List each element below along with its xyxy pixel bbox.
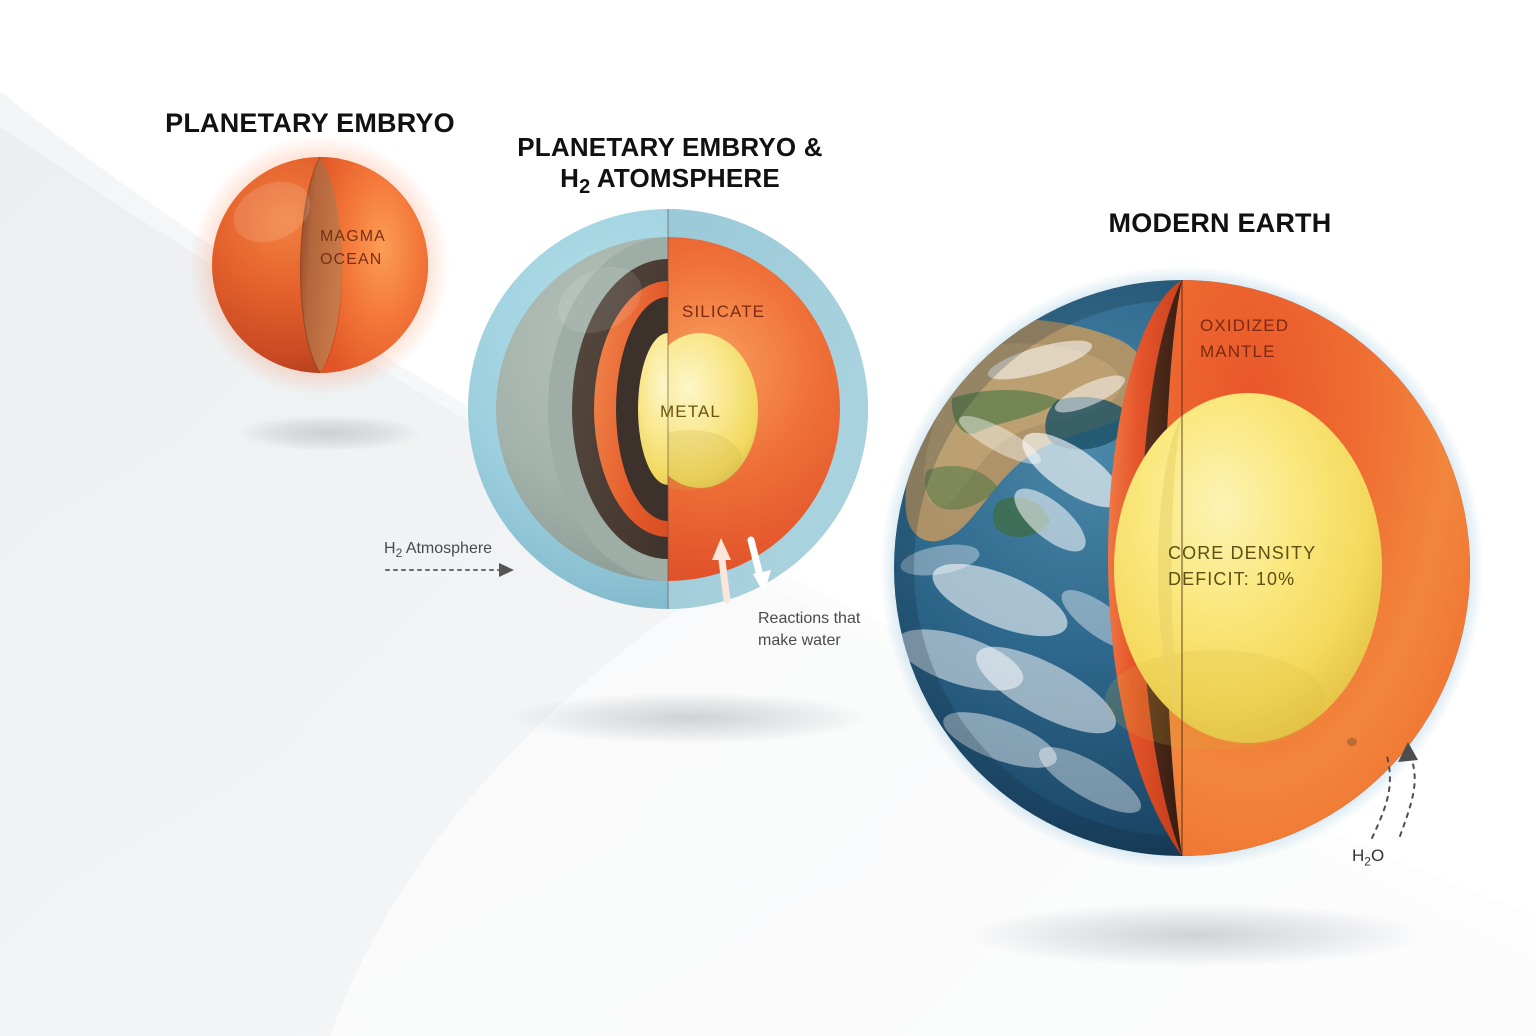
annotation-reactions-that-make-water: Reactions that make water bbox=[758, 608, 860, 651]
annotation-h2o-prefix: H bbox=[1352, 846, 1364, 865]
annotation-h2-atmosphere: H2 Atmosphere bbox=[384, 538, 492, 561]
subscript-2: 2 bbox=[1364, 854, 1371, 868]
diagram-stage: PLANETARY EMBRYO PLANETARY EMBRYO &H2 AT… bbox=[0, 0, 1536, 1036]
panel-title-line1: PLANETARY EMBRYO & bbox=[517, 132, 823, 162]
annotation-h2o-suffix: O bbox=[1371, 846, 1384, 865]
panel-title-modern-earth: MODERN EARTH bbox=[1010, 208, 1430, 240]
annotation-h2-prefix: H bbox=[384, 540, 396, 557]
panel-title-line2-suffix: ATOMSPHERE bbox=[590, 163, 780, 193]
subscript-2: 2 bbox=[579, 176, 590, 198]
annotation-h2o: H2O bbox=[1352, 845, 1384, 870]
panel-title-line2-prefix: H bbox=[560, 163, 579, 193]
panel-title-planetary-embryo-h2: PLANETARY EMBRYO &H2 ATOMSPHERE bbox=[455, 132, 885, 199]
annotation-h2-suffix: Atmosphere bbox=[402, 540, 492, 557]
